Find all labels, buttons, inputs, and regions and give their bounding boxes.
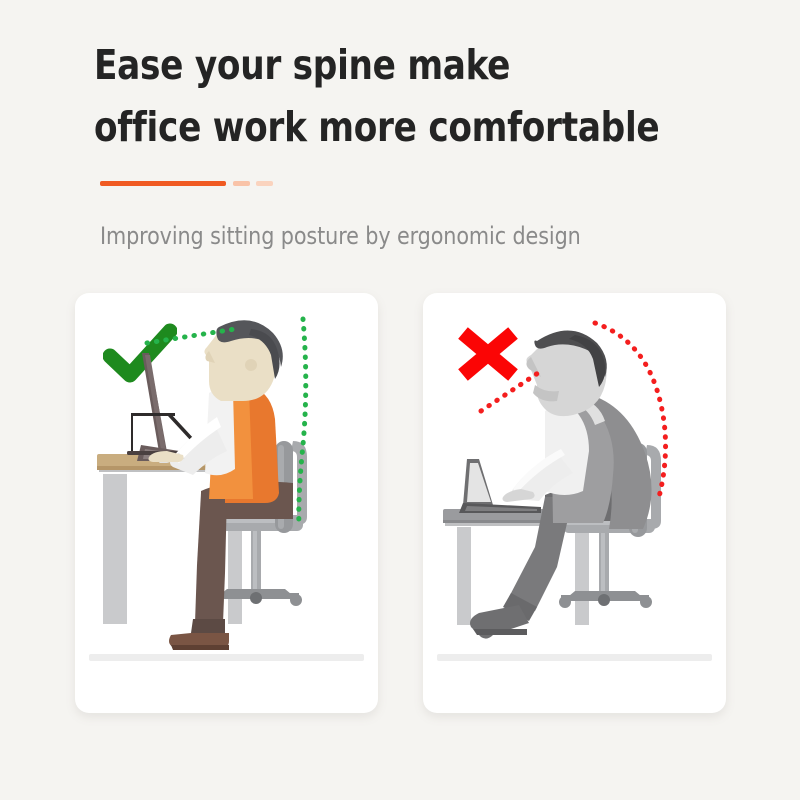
card-bad-posture xyxy=(423,293,726,713)
legs-good xyxy=(169,493,229,650)
page-root: Ease your spine make office work more co… xyxy=(0,0,800,800)
bad-posture-illustration xyxy=(423,293,726,713)
torso-good xyxy=(149,385,280,503)
good-posture-illustration xyxy=(75,293,378,713)
sight-line-bad xyxy=(481,371,541,411)
divider-segment-primary xyxy=(100,181,226,186)
page-subtitle: Improving sitting posture by ergonomic d… xyxy=(100,222,734,250)
page-title: Ease your spine make office work more co… xyxy=(94,34,736,159)
divider-segment-faded-2 xyxy=(256,181,273,186)
head-good xyxy=(204,320,282,401)
divider-segment-faded-1 xyxy=(233,181,250,186)
card-good-posture xyxy=(75,293,378,713)
